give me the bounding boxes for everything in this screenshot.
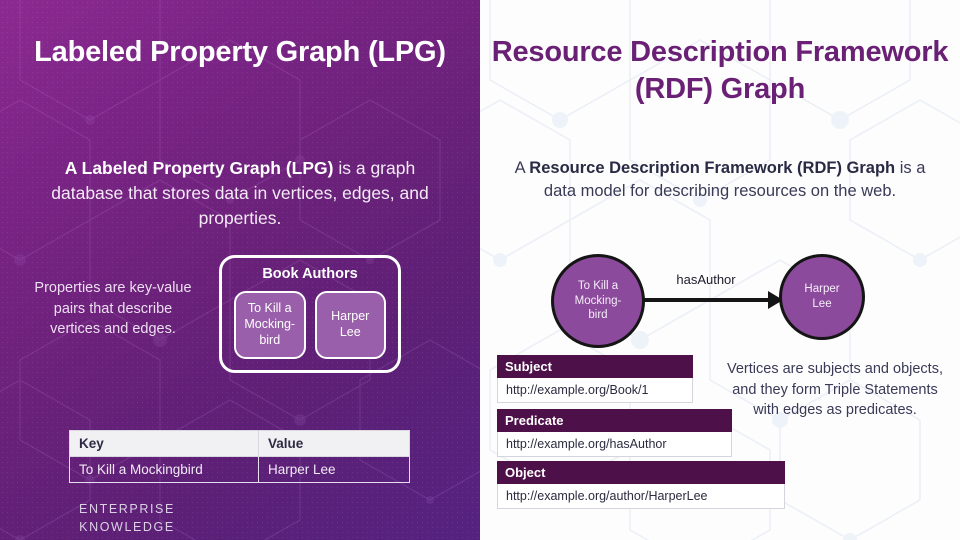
triple-header-predicate: Predicate	[497, 409, 732, 432]
triple-header-subject: Subject	[497, 355, 693, 378]
table-header-value: Value	[259, 431, 410, 457]
lpg-intro: A Labeled Property Graph (LPG) is a grap…	[28, 156, 452, 231]
lpg-title: Labeled Property Graph (LPG)	[30, 34, 450, 71]
triple-value-object: http://example.org/author/HarperLee	[497, 484, 785, 509]
graph-edge-line	[644, 298, 770, 302]
graph-node-object[interactable]: Harper Lee	[779, 254, 865, 340]
key-value-table: Key Value To Kill a Mockingbird Harper L…	[69, 430, 410, 483]
rdf-intro: A Resource Description Framework (RDF) G…	[510, 157, 930, 204]
table-header-row: Key Value	[70, 431, 410, 457]
vertex-box-author[interactable]: Harper Lee	[315, 291, 387, 359]
triple-header-object: Object	[497, 461, 785, 484]
rdf-intro-lead: A	[515, 159, 530, 177]
rdf-intro-bold: Resource Description Framework (RDF) Gra…	[529, 159, 895, 177]
vertex-box-book[interactable]: To Kill a Mocking- bird	[234, 291, 306, 359]
triple-block-predicate: Predicate http://example.org/hasAuthor	[497, 409, 732, 457]
enterprise-knowledge-logo: ENTERPRISE KNOWLEDGE	[62, 500, 192, 536]
triple-value-subject: http://example.org/Book/1	[497, 378, 693, 403]
vertices-note: Vertices are subjects and objects, and t…	[720, 359, 950, 421]
table-cell-key: To Kill a Mockingbird	[70, 457, 259, 483]
lpg-intro-bold: A Labeled Property Graph (LPG)	[65, 158, 334, 178]
properties-note: Properties are key-value pairs that desc…	[30, 278, 196, 340]
rdf-graph-diagram: To Kill a Mocking- bird hasAuthor Harper…	[480, 245, 960, 355]
table-cell-value: Harper Lee	[259, 457, 410, 483]
graph-node-subject[interactable]: To Kill a Mocking- bird	[551, 254, 645, 348]
vertex-row: To Kill a Mocking- bird Harper Lee	[234, 291, 386, 359]
triple-value-predicate: http://example.org/hasAuthor	[497, 432, 732, 457]
book-authors-card-title: Book Authors	[222, 266, 398, 282]
infographic-page: Labeled Property Graph (LPG) A Labeled P…	[0, 0, 960, 540]
rdf-title: Resource Description Framework (RDF) Gra…	[488, 34, 952, 108]
rdf-panel: Resource Description Framework (RDF) Gra…	[480, 0, 960, 540]
book-authors-card: Book Authors To Kill a Mocking- bird Har…	[219, 255, 401, 373]
triple-block-subject: Subject http://example.org/Book/1	[497, 355, 693, 403]
triple-block-object: Object http://example.org/author/HarperL…	[497, 461, 785, 509]
table-row: To Kill a Mockingbird Harper Lee	[70, 457, 410, 483]
table-header-key: Key	[70, 431, 259, 457]
lpg-panel: Labeled Property Graph (LPG) A Labeled P…	[0, 0, 480, 540]
graph-edge-label: hasAuthor	[640, 272, 772, 287]
